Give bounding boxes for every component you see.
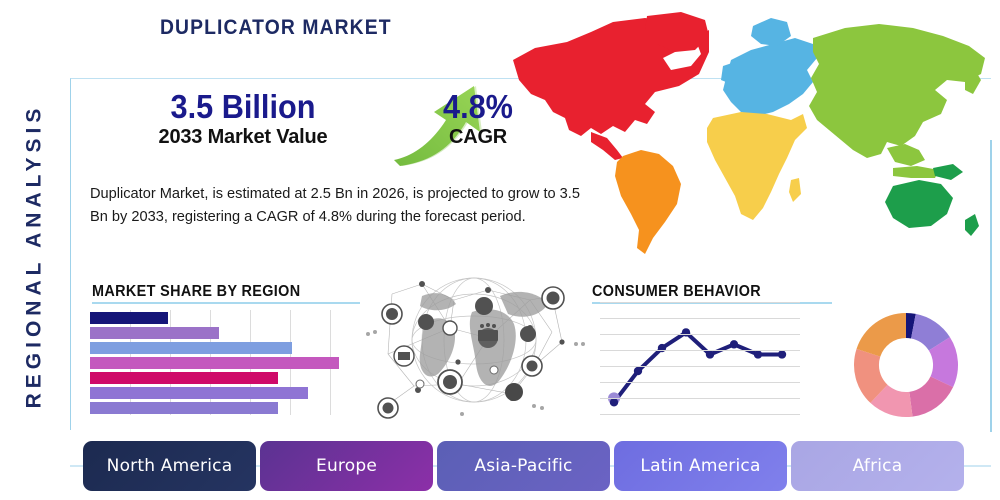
region-donut-chart	[851, 310, 961, 420]
region-tab-label: North America	[107, 456, 233, 476]
line-chart-marker	[610, 398, 618, 406]
region-tab-europe[interactable]: Europe	[260, 441, 433, 491]
map-region-australia	[885, 180, 953, 228]
line-chart-marker	[754, 350, 762, 358]
donut-segment	[857, 313, 906, 357]
region-tab-label: Europe	[316, 456, 377, 476]
line-chart-gridline	[600, 398, 800, 399]
map-region-asia	[809, 24, 985, 158]
region-tab-label: Asia-Pacific	[474, 456, 572, 476]
line-chart-gridline	[600, 366, 800, 367]
infographic-root: REGIONAL ANALYSIS DUPLICATOR MARKET 3.5 …	[0, 0, 1000, 500]
bar-chart-bar	[90, 387, 308, 399]
region-tabs[interactable]: North AmericaEuropeAsia-PacificLatin Ame…	[83, 441, 963, 491]
hero-stats: 3.5 Billion 2033 Market Value 4.8% CAGR	[88, 90, 508, 170]
bar-fill	[90, 372, 278, 384]
consumer-behavior-line-chart	[600, 302, 800, 414]
line-chart-gridline	[600, 414, 800, 415]
bar-chart-bar	[90, 342, 292, 354]
line-chart-gridline	[600, 334, 800, 335]
bar-fill	[90, 387, 308, 399]
line-chart-gridline	[600, 318, 800, 319]
bar-fill	[90, 327, 219, 339]
bar-chart-bar	[90, 372, 278, 384]
bar-fill	[90, 357, 339, 369]
map-region-indonesia	[893, 166, 939, 178]
map-region-central-america	[591, 132, 623, 160]
region-tab-north-america[interactable]: North America	[83, 441, 256, 491]
market-value-block: 3.5 Billion 2033 Market Value	[128, 90, 358, 149]
global-network-illustration	[362, 266, 588, 422]
map-region-madagascar	[789, 178, 801, 202]
line-chart-marker	[778, 350, 786, 358]
page-title: DUPLICATOR MARKET	[160, 16, 392, 40]
consumer-behavior-section-title: CONSUMER BEHAVIOR	[592, 283, 761, 301]
market-share-bar-chart	[90, 310, 370, 415]
bar-fill	[90, 402, 278, 414]
region-tab-asia-pacific[interactable]: Asia-Pacific	[437, 441, 610, 491]
line-chart-marker	[730, 340, 738, 348]
bar-chart-bar	[90, 402, 278, 414]
market-value-label: 2033 Market Value	[128, 126, 358, 149]
map-region-europe	[723, 38, 817, 116]
region-tab-label: Latin America	[640, 456, 760, 476]
region-tab-label: Africa	[853, 456, 903, 476]
bar-chart-bar	[90, 357, 339, 369]
market-value: 3.5 Billion	[136, 90, 350, 125]
side-label-text: REGIONAL ANALYSIS	[22, 104, 46, 409]
bar-chart-bar	[90, 327, 219, 339]
region-tab-africa[interactable]: Africa	[791, 441, 964, 491]
line-chart-gridline	[600, 382, 800, 383]
map-region-southeast-asia	[887, 144, 925, 166]
map-region-new-guinea	[933, 164, 963, 180]
region-tab-latin-america[interactable]: Latin America	[614, 441, 787, 491]
map-region-south-america	[615, 150, 681, 254]
map-region-africa	[707, 112, 807, 220]
bar-fill	[90, 312, 168, 324]
line-chart-marker	[706, 350, 714, 358]
map-region-new-zealand	[965, 214, 979, 236]
line-chart-marker	[634, 367, 642, 375]
line-chart-gridline	[600, 302, 800, 303]
market-share-title-rule	[92, 302, 360, 304]
world-map-illustration	[495, 8, 995, 266]
bar-chart-bar	[90, 312, 168, 324]
bar-fill	[90, 342, 292, 354]
line-chart-gridline	[600, 350, 800, 351]
line-chart-marker	[682, 328, 690, 336]
market-share-section-title: MARKET SHARE BY REGION	[92, 283, 300, 301]
vertical-side-label: REGIONAL ANALYSIS	[8, 56, 60, 456]
